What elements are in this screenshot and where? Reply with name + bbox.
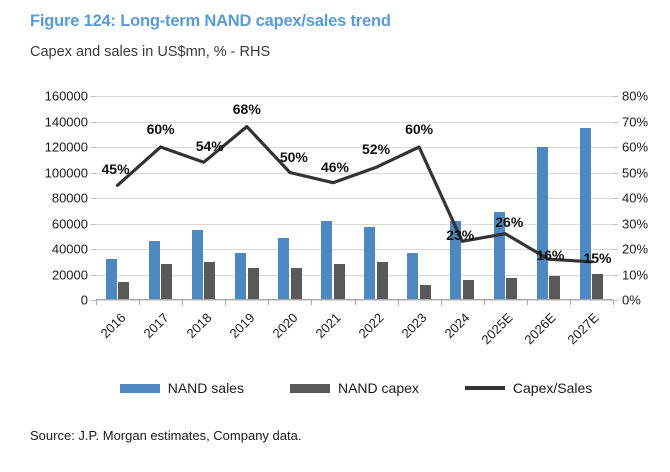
bar-group <box>484 96 527 300</box>
legend-item[interactable]: NAND capex <box>290 380 419 396</box>
bar-nand-sales <box>278 238 289 300</box>
line-point-label: 26% <box>495 214 523 230</box>
y-axis-tick-right <box>613 275 618 276</box>
x-axis-tick <box>441 300 442 305</box>
y-axis-label-right: 0% <box>622 293 641 308</box>
x-axis-tick <box>182 300 183 305</box>
y-axis-label-left: 80000 <box>52 191 88 206</box>
y-axis-label-right: 30% <box>622 216 648 231</box>
line-point-label: 16% <box>536 247 564 263</box>
bar-nand-capex <box>463 280 474 300</box>
line-point-label: 52% <box>362 141 390 157</box>
line-point-label: 54% <box>196 138 224 154</box>
bar-nand-sales <box>364 227 375 300</box>
x-axis-tick <box>311 300 312 305</box>
line-point-label: 23% <box>446 227 474 243</box>
line-point-label: 45% <box>102 161 130 177</box>
bar-nand-sales <box>580 128 591 300</box>
bar-group <box>441 96 484 300</box>
bar-nand-sales <box>149 241 160 300</box>
y-axis-label-left: 100000 <box>45 165 88 180</box>
x-axis-tick <box>225 300 226 305</box>
bar-group <box>225 96 268 300</box>
y-axis-tick-right <box>613 147 618 148</box>
line-point-label: 50% <box>280 149 308 165</box>
plot-area: 45%60%54%68%50%46%52%60%23%26%16%15% <box>96 96 613 300</box>
y-axis-tick-right <box>613 173 618 174</box>
line-point-label: 46% <box>321 159 349 175</box>
bar-group <box>527 96 570 300</box>
bar-nand-capex <box>420 285 431 300</box>
bar-group <box>96 96 139 300</box>
bar-nand-capex <box>161 264 172 300</box>
y-axis-label-left: 40000 <box>52 242 88 257</box>
line-point-label: 60% <box>147 121 175 137</box>
bar-group <box>355 96 398 300</box>
x-axis-tick <box>613 300 614 305</box>
legend-item[interactable]: Capex/Sales <box>465 380 592 396</box>
x-axis-tick <box>570 300 571 305</box>
y-axis-tick-right <box>613 122 618 123</box>
bar-nand-capex <box>506 278 517 300</box>
x-axis-tick <box>484 300 485 305</box>
source-note: Source: J.P. Morgan estimates, Company d… <box>30 428 301 443</box>
bar-nand-sales <box>537 147 548 300</box>
y-axis-label-left: 120000 <box>45 140 88 155</box>
bar-nand-sales <box>407 253 418 300</box>
bar-group <box>268 96 311 300</box>
y-axis-tick-right <box>613 198 618 199</box>
line-point-label: 68% <box>233 101 261 117</box>
bar-nand-sales <box>235 253 246 300</box>
y-axis-label-right: 50% <box>622 165 648 180</box>
y-axis-tick-right <box>613 224 618 225</box>
legend-line-swatch-icon <box>465 386 505 390</box>
legend-label: NAND capex <box>338 380 419 396</box>
y-axis-label-right: 10% <box>622 267 648 282</box>
bar-nand-capex <box>248 268 259 301</box>
y-axis-label-left: 140000 <box>45 114 88 129</box>
x-axis-tick <box>96 300 97 305</box>
y-axis-label-right: 20% <box>622 242 648 257</box>
legend-item[interactable]: NAND sales <box>120 380 244 396</box>
x-axis-tick <box>527 300 528 305</box>
bar-nand-capex <box>592 274 603 300</box>
x-axis-label: 2016 <box>50 310 128 388</box>
bar-nand-capex <box>377 262 388 300</box>
legend-bar-swatch-icon <box>120 384 160 393</box>
x-axis-tick <box>139 300 140 305</box>
bar-group <box>570 96 613 300</box>
x-axis-tick <box>355 300 356 305</box>
y-axis-label-left: 60000 <box>52 216 88 231</box>
legend-bar-swatch-icon <box>290 384 330 393</box>
y-axis-label-right: 70% <box>622 114 648 129</box>
bar-nand-capex <box>118 282 129 300</box>
line-point-label: 15% <box>583 250 611 266</box>
y-axis-label-right: 80% <box>622 89 648 104</box>
bar-nand-sales <box>106 259 117 300</box>
bar-nand-capex <box>549 276 560 300</box>
chart-canvas: 45%60%54%68%50%46%52%60%23%26%16%15% 020… <box>0 0 670 472</box>
y-axis-label-left: 0 <box>81 293 88 308</box>
y-axis-tick-right <box>613 249 618 250</box>
line-point-label: 60% <box>405 121 433 137</box>
legend-label: Capex/Sales <box>513 380 592 396</box>
y-axis-label-right: 40% <box>622 191 648 206</box>
y-axis-label-left: 20000 <box>52 267 88 282</box>
bar-group <box>311 96 354 300</box>
legend-label: NAND sales <box>168 380 244 396</box>
y-axis-label-right: 60% <box>622 140 648 155</box>
y-axis-tick-right <box>613 96 618 97</box>
y-axis-label-left: 160000 <box>45 89 88 104</box>
bar-nand-capex <box>291 268 302 300</box>
bar-nand-sales <box>321 221 332 300</box>
bar-nand-sales <box>192 230 203 300</box>
chart-legend: NAND salesNAND capexCapex/Sales <box>96 380 616 396</box>
x-axis-tick <box>268 300 269 305</box>
x-axis-tick <box>398 300 399 305</box>
bar-nand-capex <box>334 264 345 300</box>
bar-group <box>182 96 225 300</box>
bar-nand-capex <box>204 262 215 300</box>
